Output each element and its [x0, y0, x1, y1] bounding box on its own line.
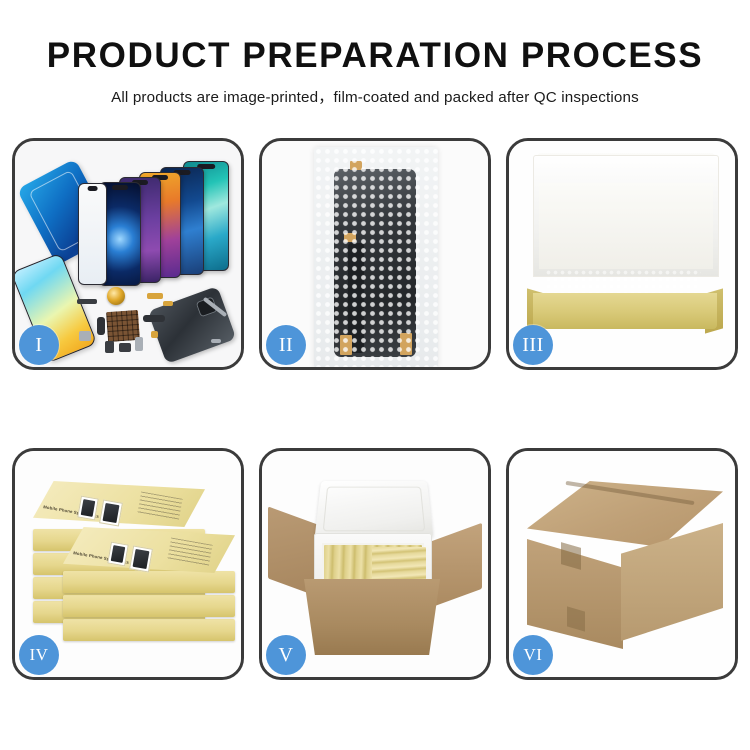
- phone-white-front: [78, 183, 107, 285]
- step-badge-6: VI: [513, 635, 553, 675]
- small-part: [147, 293, 163, 299]
- process-step-6: VI: [506, 448, 738, 680]
- foam-box-lid: [315, 481, 434, 539]
- box-yellow-front: [533, 293, 717, 329]
- bubble-wrap-bag: [314, 147, 438, 367]
- small-part: [77, 299, 97, 304]
- box-stack: Mobile Phone Spare Parts Mobile Phone Sp…: [23, 469, 239, 667]
- process-step-5: V: [259, 448, 491, 680]
- stacked-box: [63, 619, 235, 641]
- small-part: [151, 331, 158, 338]
- small-part: [105, 341, 114, 353]
- box-foam-liner: [539, 183, 713, 269]
- process-step-3: III: [506, 138, 738, 370]
- carton-body: [304, 579, 440, 655]
- notch-icon: [87, 186, 98, 191]
- page-subtitle: All products are image-printed，film-coat…: [0, 85, 750, 107]
- camera-ring-part: [107, 287, 125, 305]
- process-step-1: I: [12, 138, 244, 370]
- step-badge-4: IV: [19, 635, 59, 675]
- bubble-texture: [314, 147, 438, 367]
- step-badge-2: II: [266, 325, 306, 365]
- process-step-4: Mobile Phone Spare Parts Mobile Phone Sp…: [12, 448, 244, 680]
- small-part: [119, 343, 131, 352]
- step-badge-5: V: [266, 635, 306, 675]
- box-product-thumbnail: [129, 545, 153, 572]
- small-part: [97, 317, 105, 335]
- packed-boxes-row-2: [372, 547, 426, 581]
- small-part: [135, 337, 143, 351]
- step-badge-1: I: [19, 325, 59, 365]
- stacked-box: [63, 571, 235, 593]
- product-preparation-infographic: PRODUCT PREPARATION PROCESS All products…: [0, 0, 750, 750]
- small-part: [211, 339, 221, 343]
- box-product-thumbnail: [107, 542, 129, 567]
- process-step-grid: I II: [12, 138, 738, 680]
- box-product-thumbnail: [77, 496, 99, 521]
- box-product-thumbnail: [99, 499, 123, 526]
- small-part: [143, 315, 165, 322]
- small-part: [79, 331, 91, 341]
- stacked-box: [63, 595, 235, 617]
- process-step-2: II: [259, 138, 491, 370]
- page-title: PRODUCT PREPARATION PROCESS: [0, 38, 750, 75]
- notch-icon: [112, 185, 128, 190]
- step-badge-3: III: [513, 325, 553, 365]
- small-part: [163, 301, 173, 306]
- header: PRODUCT PREPARATION PROCESS All products…: [0, 0, 750, 107]
